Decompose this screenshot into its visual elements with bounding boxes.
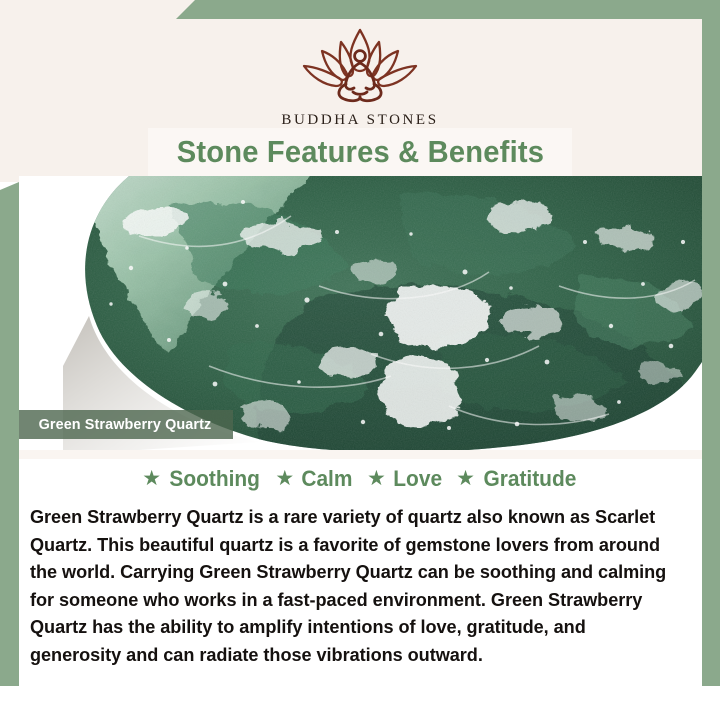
star-icon: ★	[367, 468, 386, 489]
benefit-item: ★ Love	[367, 466, 443, 492]
star-icon: ★	[275, 468, 294, 489]
title-banner: Stone Features & Benefits	[148, 128, 572, 176]
benefit-label: Soothing	[169, 466, 260, 492]
benefit-item: ★ Soothing	[142, 466, 262, 492]
benefits-row: ★ Soothing ★ Calm ★ Love ★ Gratitude	[19, 466, 702, 492]
description-text: Green Strawberry Quartz is a rare variet…	[30, 503, 677, 668]
stone-photo: Green Strawberry Quartz	[19, 176, 702, 450]
stone-info-poster: BUDDHA STONES Stone Features & Benefits	[0, 0, 720, 720]
green-quartz-image	[19, 176, 702, 450]
frame-left-band	[0, 182, 19, 686]
star-icon: ★	[456, 468, 475, 489]
benefit-label: Gratitude	[483, 466, 576, 492]
stone-caption-badge: Green Strawberry Quartz	[19, 410, 233, 439]
star-icon: ★	[142, 468, 161, 489]
stone-caption-text: Green Strawberry Quartz	[39, 416, 212, 433]
benefit-item: ★ Calm	[275, 466, 354, 492]
page-title: Stone Features & Benefits	[176, 134, 543, 170]
brand-wordmark: BUDDHA STONES	[0, 112, 720, 129]
brand-logo: BUDDHA STONES	[0, 22, 720, 129]
benefit-label: Calm	[302, 466, 353, 492]
lotus-meditation-icon	[286, 22, 434, 108]
panel-top-strip	[19, 450, 702, 459]
benefit-item: ★ Gratitude	[456, 466, 579, 492]
benefit-label: Love	[393, 466, 442, 492]
